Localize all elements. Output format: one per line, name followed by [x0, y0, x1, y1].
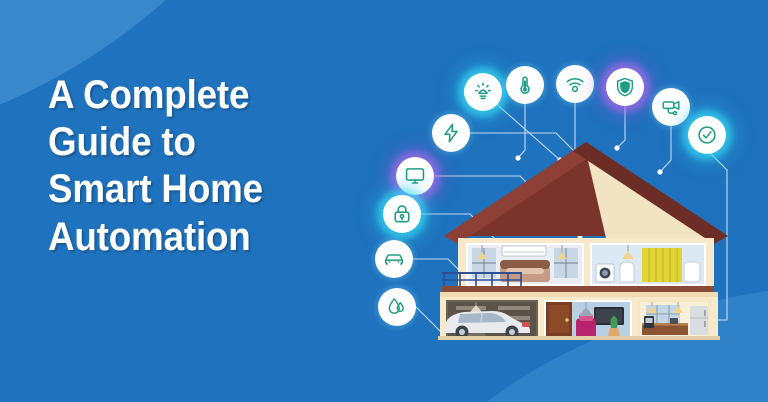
balcony-rail-top [442, 272, 522, 274]
smart-home-cutaway-illustration [436, 140, 736, 340]
icon-badge-shield[interactable] [606, 68, 644, 106]
thermometer-icon [514, 74, 536, 96]
icon-badge-lock[interactable] [383, 195, 421, 233]
lightning-bolt-icon [440, 122, 462, 144]
lock-icon [391, 203, 413, 225]
monitor-icon [404, 165, 426, 187]
icon-badge-bolt[interactable] [432, 114, 470, 152]
security-camera-icon [660, 96, 682, 118]
car-icon [383, 248, 405, 270]
shower-curtain [642, 248, 682, 282]
lamp-icon [472, 81, 494, 103]
icon-badge-water[interactable] [378, 288, 416, 326]
title-line-3: Smart Home [48, 166, 324, 213]
wifi-icon [564, 73, 586, 95]
air-conditioner [502, 246, 546, 256]
icon-badge-thermometer[interactable] [506, 66, 544, 104]
toilet [620, 262, 634, 282]
icon-badge-lamp[interactable] [464, 73, 502, 111]
house-base [438, 336, 720, 340]
icon-badge-monitor[interactable] [396, 157, 434, 195]
bed-headboard [500, 260, 550, 269]
shield-icon [614, 76, 636, 98]
balcony-deck [442, 286, 522, 292]
water-drop-icon [386, 296, 408, 318]
bathtub [684, 262, 700, 282]
smart-home-banner: A Complete Guide to Smart Home Automatio… [0, 0, 768, 402]
coffee-machine [670, 318, 678, 324]
icon-badge-clock[interactable] [688, 116, 726, 154]
title-line-2: Guide to [48, 119, 324, 166]
title-line-4: Automation [48, 214, 324, 261]
icon-badge-camera[interactable] [652, 88, 690, 126]
page-title: A Complete Guide to Smart Home Automatio… [48, 72, 324, 261]
icon-badge-car[interactable] [375, 240, 413, 278]
lower-floor-band [440, 292, 718, 297]
clock-check-icon [696, 124, 718, 146]
title-line-1: A Complete [48, 72, 324, 119]
door-handle [565, 318, 568, 321]
icon-badge-wifi[interactable] [556, 65, 594, 103]
